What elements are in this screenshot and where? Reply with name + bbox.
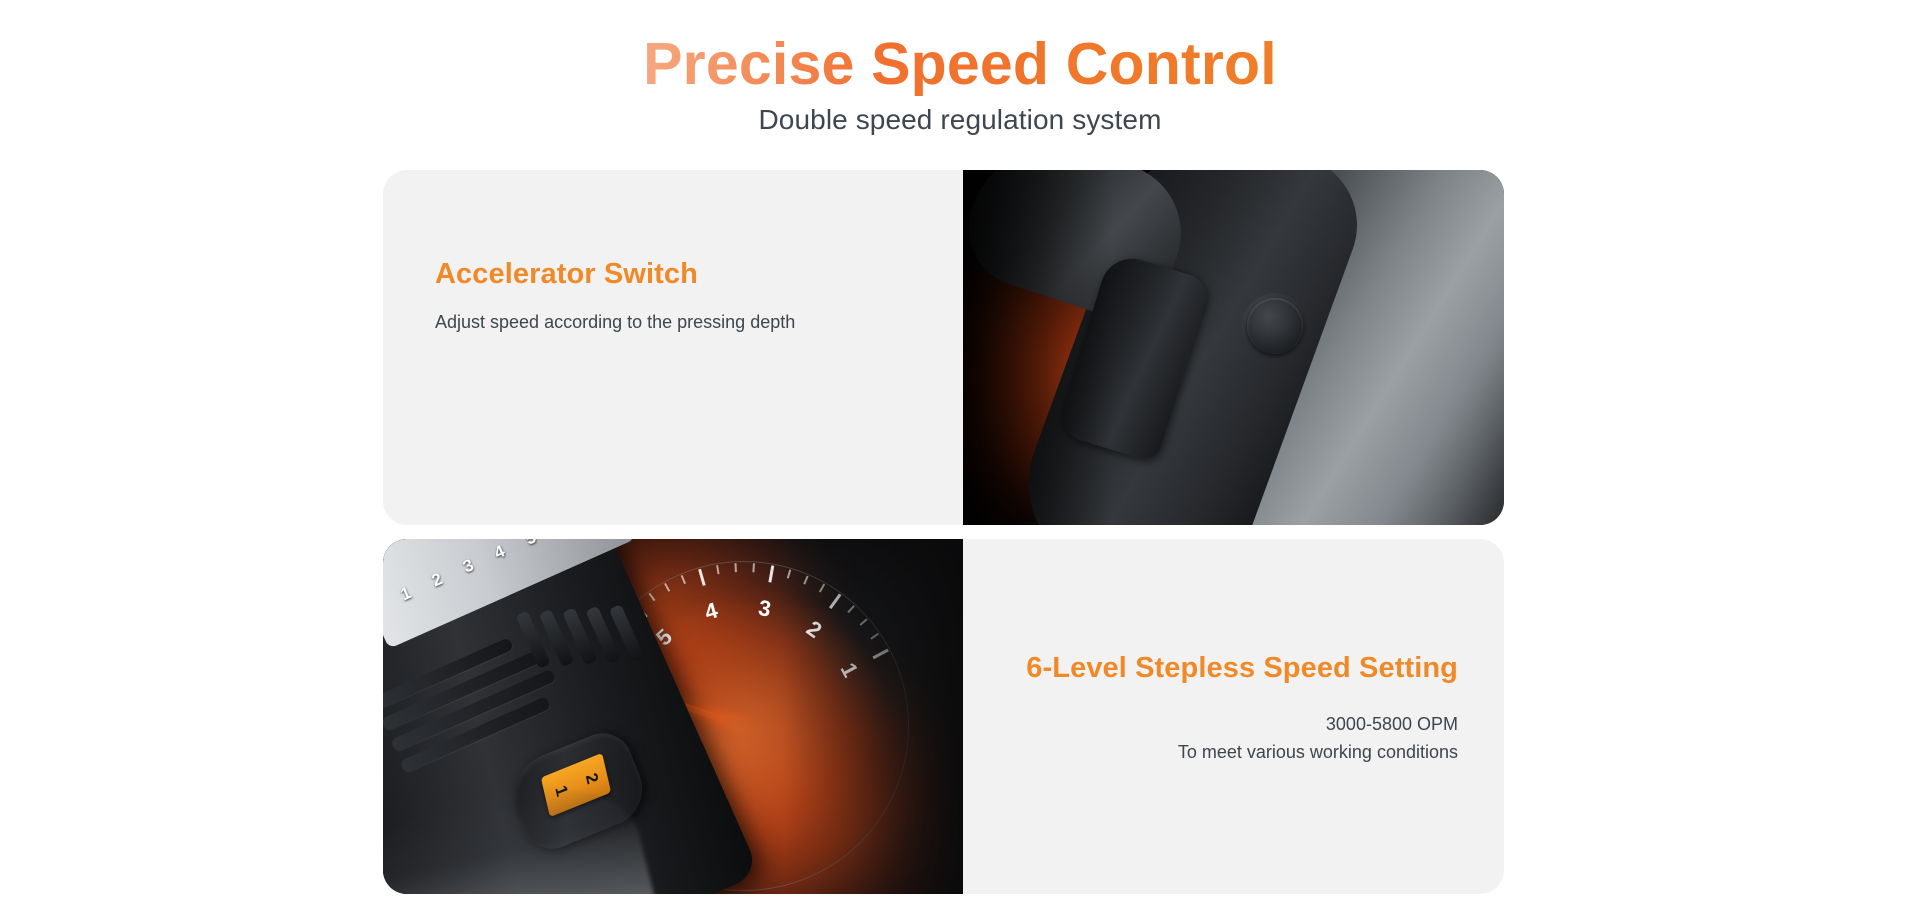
round-button-icon [1247, 298, 1303, 354]
feature-row-accelerator: Accelerator Switch Adjust speed accordin… [383, 170, 1504, 525]
gauge-number-3: 3 [750, 594, 780, 624]
accelerator-text-block: Accelerator Switch Adjust speed accordin… [435, 258, 795, 336]
speed-setting-spec: 3000-5800 OPM [1026, 712, 1458, 738]
gear-selector-label-2: 2 [581, 770, 602, 787]
accelerator-description: Adjust speed according to the pressing d… [435, 310, 795, 336]
accelerator-text-panel: Accelerator Switch Adjust speed accordin… [383, 170, 963, 525]
accelerator-heading: Accelerator Switch [435, 258, 795, 291]
speed-dial-photo: 654321 1 2 3 4 5 6 [383, 539, 963, 894]
photo-left-shadow [963, 170, 1113, 525]
product-feature-page: Precise Speed Control Double speed regul… [0, 0, 1920, 900]
speed-setting-text-panel: 6-Level Stepless Speed Setting 3000-5800… [963, 539, 1504, 894]
feature-row-speed-setting: 654321 1 2 3 4 5 6 [383, 539, 1504, 894]
page-header: Precise Speed Control Double speed regul… [0, 0, 1920, 136]
speed-setting-description: To meet various working conditions [1026, 740, 1458, 766]
speed-setting-heading: 6-Level Stepless Speed Setting [1026, 652, 1458, 685]
page-title: Precise Speed Control [0, 34, 1920, 96]
page-subtitle: Double speed regulation system [0, 104, 1920, 136]
feature-card-grid: Accelerator Switch Adjust speed accordin… [383, 170, 1504, 894]
photo-right-fade [783, 539, 963, 894]
speed-setting-text-block: 6-Level Stepless Speed Setting 3000-5800… [1026, 652, 1458, 765]
accelerator-photo [963, 170, 1504, 525]
